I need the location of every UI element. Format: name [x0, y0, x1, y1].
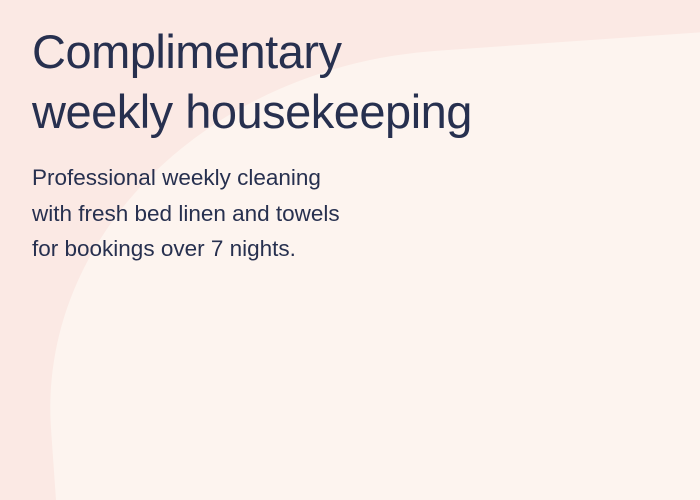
- subheadline: Professional weekly cleaning with fresh …: [32, 160, 462, 267]
- promo-card: Complimentary weekly housekeeping Profes…: [0, 0, 700, 500]
- page-title: Complimentary weekly housekeeping: [32, 22, 632, 142]
